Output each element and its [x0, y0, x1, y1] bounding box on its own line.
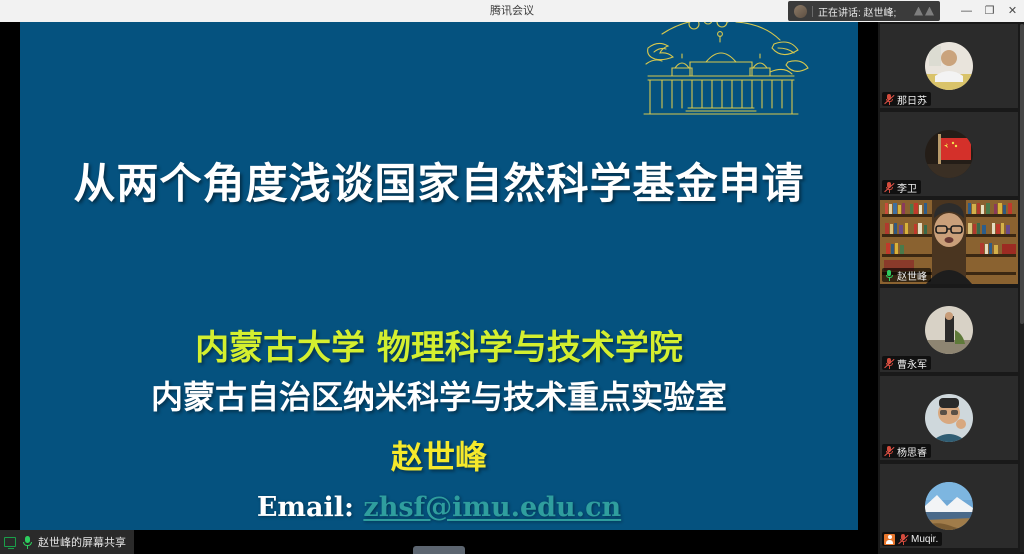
- participant-name: 曹永军: [897, 356, 927, 371]
- participant-label: Muqir.: [882, 532, 942, 546]
- participant-tile[interactable]: 杨思睿: [880, 376, 1018, 460]
- avatar: [925, 394, 973, 442]
- shared-screen-stage: 从两个角度浅谈国家自然科学基金申请 内蒙古大学 物理科学与技术学院 内蒙古自治区…: [0, 22, 878, 554]
- avatar: [925, 130, 973, 178]
- participant-tile[interactable]: Muqir.: [880, 464, 1018, 548]
- participant-name: 赵世峰: [897, 268, 927, 283]
- window-controls: — ❐ ✕: [955, 0, 1024, 22]
- host-badge-icon: [884, 534, 895, 545]
- slide-title: 从两个角度浅谈国家自然科学基金申请: [20, 150, 858, 211]
- audio-wave-icon: [914, 7, 934, 16]
- slide-email-line: Email: zhsf@imu.edu.cn: [20, 492, 858, 523]
- participant-tile[interactable]: 那日苏: [880, 24, 1018, 108]
- presentation-slide: 从两个角度浅谈国家自然科学基金申请 内蒙古大学 物理科学与技术学院 内蒙古自治区…: [20, 22, 858, 532]
- participant-label: 曹永军: [882, 356, 931, 370]
- mic-muted-icon: [884, 94, 894, 105]
- participant-name: 那日苏: [897, 92, 927, 107]
- participant-name: 杨思睿: [897, 444, 927, 459]
- monitor-share-icon: [4, 537, 16, 547]
- participant-tile[interactable]: 赵世峰: [880, 200, 1018, 284]
- participant-rail-scrollbar[interactable]: [1020, 24, 1024, 552]
- screen-share-bar: 赵世峰的屏幕共享: [0, 530, 878, 554]
- avatar: [925, 482, 973, 530]
- great-hall-line-art-icon: [628, 22, 814, 128]
- mic-muted-icon: [884, 182, 894, 193]
- avatar: [925, 306, 973, 354]
- speaking-notice: 正在讲话: 赵世峰;: [788, 1, 940, 21]
- minimize-icon[interactable]: —: [955, 0, 978, 22]
- speaking-notice-label: 正在讲话: 赵世峰;: [818, 4, 896, 19]
- participant-name: 李卫: [897, 180, 917, 195]
- participant-tile[interactable]: 曹永军: [880, 288, 1018, 372]
- participant-label: 杨思睿: [882, 444, 931, 458]
- slide-organization-line-1: 内蒙古大学 物理科学与技术学院: [20, 320, 858, 369]
- participant-tile[interactable]: 李卫: [880, 112, 1018, 196]
- avatar: [925, 42, 973, 90]
- restore-icon[interactable]: ❐: [978, 0, 1001, 22]
- screen-share-label: 赵世峰的屏幕共享: [38, 534, 126, 550]
- speaker-avatar-icon: [794, 5, 807, 18]
- participant-name: Muqir.: [911, 534, 938, 545]
- slide-presenter-name: 赵世峰: [20, 432, 858, 478]
- screen-share-indicator: 赵世峰的屏幕共享: [0, 530, 134, 554]
- mic-muted-icon: [898, 534, 908, 545]
- close-icon[interactable]: ✕: [1001, 0, 1024, 22]
- mic-muted-icon: [884, 358, 894, 369]
- email-label: Email:: [257, 492, 354, 523]
- participant-label: 李卫: [882, 180, 921, 194]
- mic-muted-icon: [884, 446, 894, 457]
- mic-on-icon: [21, 536, 33, 549]
- control-bar-handle[interactable]: [413, 546, 465, 554]
- email-address[interactable]: zhsf@imu.edu.cn: [363, 492, 621, 523]
- divider: [812, 6, 813, 17]
- participant-label: 那日苏: [882, 92, 931, 106]
- participant-rail: 那日苏李卫赵世峰曹永军杨思睿Muqir.: [878, 22, 1024, 554]
- tencent-meeting-window: 腾讯会议 正在讲话: 赵世峰; — ❐ ✕: [0, 0, 1024, 554]
- window-titlebar: 腾讯会议 正在讲话: 赵世峰; — ❐ ✕: [0, 0, 1024, 22]
- scrollbar-thumb[interactable]: [1020, 24, 1024, 324]
- slide-organization-line-2: 内蒙古自治区纳米科学与技术重点实验室: [20, 372, 858, 418]
- mic-on-icon: [884, 270, 894, 281]
- participant-label: 赵世峰: [882, 268, 931, 282]
